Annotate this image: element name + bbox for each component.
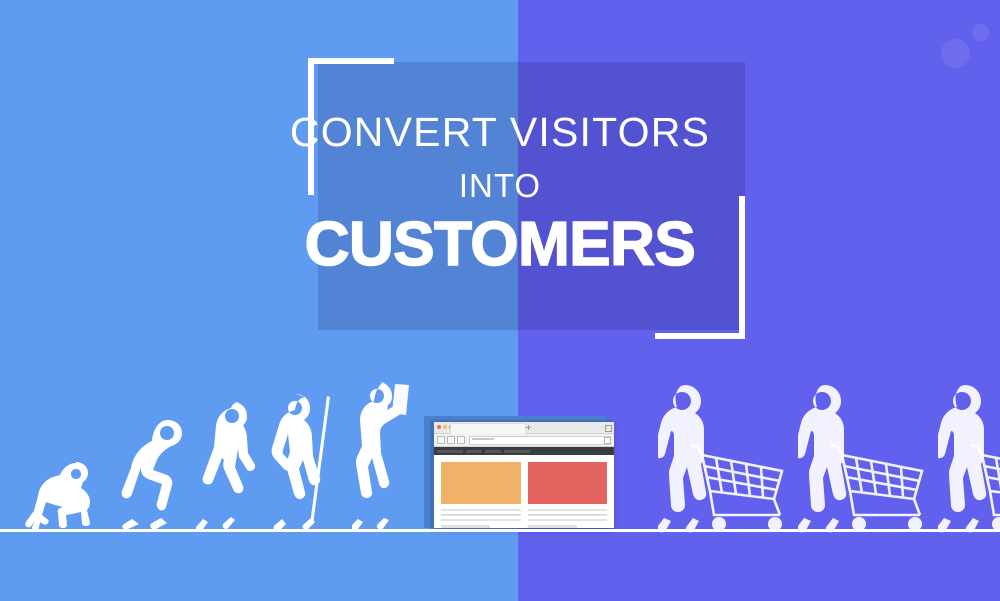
evolution-stage-early-human-icon — [195, 402, 263, 530]
address-input-text — [472, 438, 494, 440]
evolution-stage-modern-human-icon — [352, 382, 414, 530]
back-arrow-icon[interactable] — [437, 436, 445, 444]
text-line — [441, 509, 521, 511]
text-line — [528, 519, 608, 521]
browser-bookmarks-bar — [434, 447, 614, 455]
bracket-top-left-horizontal — [308, 58, 394, 64]
bookmark-item[interactable] — [466, 450, 482, 453]
address-input[interactable] — [469, 436, 611, 445]
text-line — [441, 514, 521, 516]
evolution-stage-spear-hunter-icon — [268, 388, 344, 530]
browser-page-content — [434, 455, 614, 528]
new-tab-icon[interactable] — [526, 425, 531, 430]
content-block-left — [441, 462, 521, 528]
text-lines-right — [528, 509, 608, 528]
text-line — [441, 519, 521, 521]
text-line-short — [441, 525, 490, 528]
browser-window-mockup — [434, 422, 614, 528]
bookmark-star-icon[interactable] — [604, 437, 611, 444]
minimize-window-icon[interactable] — [443, 425, 447, 429]
ground-line — [0, 529, 1000, 532]
bookmark-item[interactable] — [485, 450, 501, 453]
browser-tab[interactable] — [450, 423, 526, 434]
window-restore-icon[interactable] — [605, 425, 612, 432]
headline-line-1: CONVERT VISITORS — [0, 112, 1000, 153]
bookmark-item[interactable] — [504, 450, 530, 453]
close-window-icon[interactable] — [437, 425, 441, 429]
shopper-with-cart-2-icon — [798, 385, 928, 533]
bookmark-item[interactable] — [437, 450, 463, 453]
banner-canvas: CONVERT VISITORS INTO CUSTOMERS — [0, 0, 1000, 601]
content-block-right — [528, 462, 608, 528]
text-line — [528, 514, 608, 516]
hero-image-red — [528, 462, 608, 504]
reload-icon[interactable] — [457, 436, 465, 444]
bracket-bottom-right-horizontal — [655, 333, 745, 339]
text-line-short — [528, 525, 577, 528]
text-lines-left — [441, 509, 521, 528]
headline-line-3: CUSTOMERS — [0, 214, 1000, 276]
forward-arrow-icon[interactable] — [447, 436, 455, 444]
evolution-stage-ape-icon — [14, 448, 106, 530]
shopper-with-cart-3-icon — [938, 385, 1000, 533]
browser-titlebar — [434, 422, 614, 434]
headline-line-2: INTO — [0, 169, 1000, 202]
evolution-stage-hominid-icon — [120, 418, 192, 530]
hero-image-orange — [441, 462, 521, 504]
browser-toolbar — [434, 434, 614, 447]
shopper-with-cart-1-icon — [658, 385, 788, 533]
text-line — [528, 509, 608, 511]
